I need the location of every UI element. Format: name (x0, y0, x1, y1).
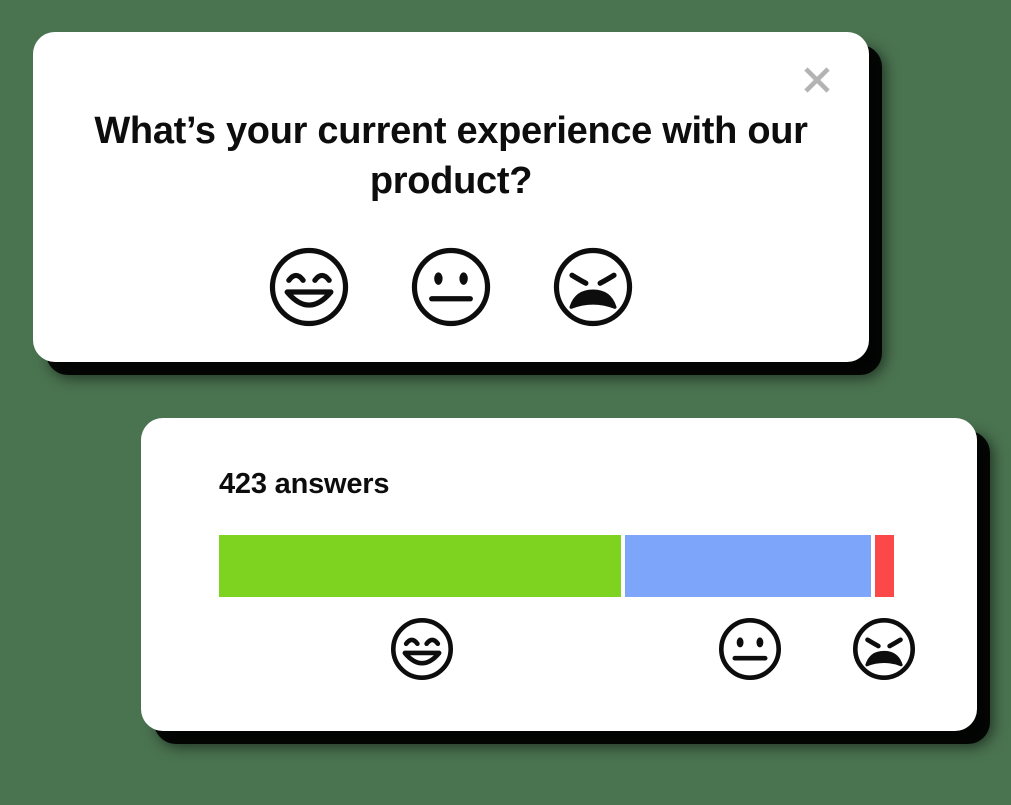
results-legend (219, 616, 894, 688)
results-stacked-bar (219, 535, 894, 597)
legend-icon-sad[interactable] (851, 616, 917, 682)
screen: What’s your current experience with our … (0, 0, 1011, 805)
answers-count-label: 423 answers (219, 468, 389, 501)
legend-icon-happy[interactable] (389, 616, 455, 682)
close-icon-glyph (800, 63, 834, 97)
rating-option-happy[interactable] (267, 245, 351, 329)
results-dialog: 423 answers (141, 418, 977, 731)
bar-segment-happy[interactable] (219, 535, 621, 597)
bar-segment-sad[interactable] (875, 535, 894, 597)
sad-face-icon (851, 616, 917, 682)
happy-face-icon (389, 616, 455, 682)
neutral-face-icon (409, 245, 493, 329)
legend-icon-neutral[interactable] (717, 616, 783, 682)
bar-segment-neutral[interactable] (625, 535, 871, 597)
rating-options (33, 245, 869, 329)
close-icon[interactable] (795, 58, 839, 102)
rating-option-sad[interactable] (551, 245, 635, 329)
neutral-face-icon (717, 616, 783, 682)
sad-face-icon (551, 245, 635, 329)
happy-face-icon (267, 245, 351, 329)
survey-dialog: What’s your current experience with our … (33, 32, 869, 362)
page-title: What’s your current experience with our … (93, 106, 809, 206)
rating-option-neutral[interactable] (409, 245, 493, 329)
